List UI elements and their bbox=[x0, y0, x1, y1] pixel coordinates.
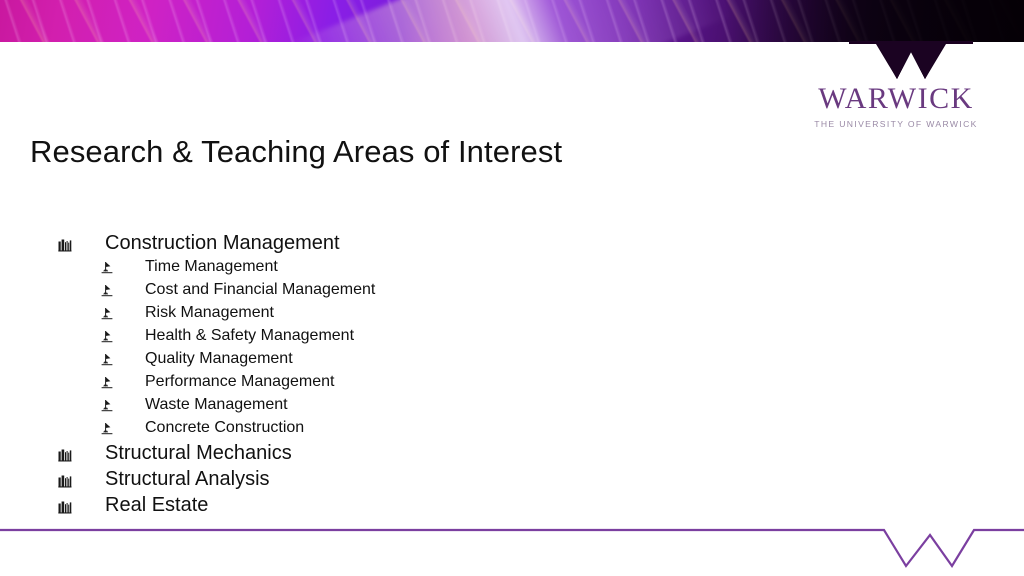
footer-rule bbox=[0, 520, 1024, 576]
outline-item-level2: Performance Management bbox=[0, 373, 700, 396]
outline-item-level1: Construction Management bbox=[0, 232, 700, 258]
outline-item-label: Concrete Construction bbox=[145, 419, 304, 437]
outline-item-label: Structural Analysis bbox=[105, 468, 270, 491]
outline-item-label: Construction Management bbox=[105, 232, 340, 255]
pennant-bullet-icon-glyph bbox=[101, 261, 113, 279]
outline-item-label: Real Estate bbox=[105, 494, 208, 517]
logo-wordmark: WARWICK bbox=[812, 84, 980, 114]
outline-item-level2: Health & Safety Management bbox=[0, 327, 700, 350]
building-bullet-icon-glyph bbox=[58, 501, 72, 519]
outline-item-label: Risk Management bbox=[145, 304, 274, 322]
outline-item-label: Cost and Financial Management bbox=[145, 281, 375, 299]
outline-item-label: Waste Management bbox=[145, 396, 288, 414]
building-bullet-icon-glyph bbox=[58, 239, 72, 257]
outline-item-level2: Risk Management bbox=[0, 304, 700, 327]
building-bullet-icon-glyph bbox=[58, 475, 72, 493]
pennant-bullet-icon-glyph bbox=[101, 422, 113, 440]
outline-item-label: Time Management bbox=[145, 258, 278, 276]
warwick-logo: WARWICK THE UNIVERSITY OF WARWICK bbox=[812, 84, 980, 129]
outline-item-label: Health & Safety Management bbox=[145, 327, 354, 345]
pennant-bullet-icon-glyph bbox=[101, 353, 113, 371]
outline-item-label: Performance Management bbox=[145, 373, 334, 391]
outline-item-level1: Structural Analysis bbox=[0, 468, 700, 494]
outline-item-level2: Waste Management bbox=[0, 396, 700, 419]
banner-dark-right-fade bbox=[724, 0, 1024, 42]
outline-item-label: Quality Management bbox=[145, 350, 293, 368]
outline-item-level2: Concrete Construction bbox=[0, 419, 700, 442]
pennant-bullet-icon-glyph bbox=[101, 330, 113, 348]
warwick-w-mark-icon bbox=[849, 41, 973, 79]
outline-item-level2: Time Management bbox=[0, 258, 700, 281]
outline-item-level1: Structural Mechanics bbox=[0, 442, 700, 468]
outline-list: Construction ManagementTime ManagementCo… bbox=[0, 232, 700, 520]
outline-item-label: Structural Mechanics bbox=[105, 442, 292, 465]
building-bullet-icon-glyph bbox=[58, 449, 72, 467]
pennant-bullet-icon-glyph bbox=[101, 376, 113, 394]
pennant-bullet-icon-glyph bbox=[101, 399, 113, 417]
outline-item-level2: Cost and Financial Management bbox=[0, 281, 700, 304]
page-title: Research & Teaching Areas of Interest bbox=[30, 134, 562, 170]
logo-subtitle: THE UNIVERSITY OF WARWICK bbox=[812, 119, 980, 129]
outline-item-level2: Quality Management bbox=[0, 350, 700, 373]
pennant-bullet-icon-glyph bbox=[101, 284, 113, 302]
outline-item-level1: Real Estate bbox=[0, 494, 700, 520]
decorative-top-banner bbox=[0, 0, 1024, 42]
pennant-bullet-icon-glyph bbox=[101, 307, 113, 325]
